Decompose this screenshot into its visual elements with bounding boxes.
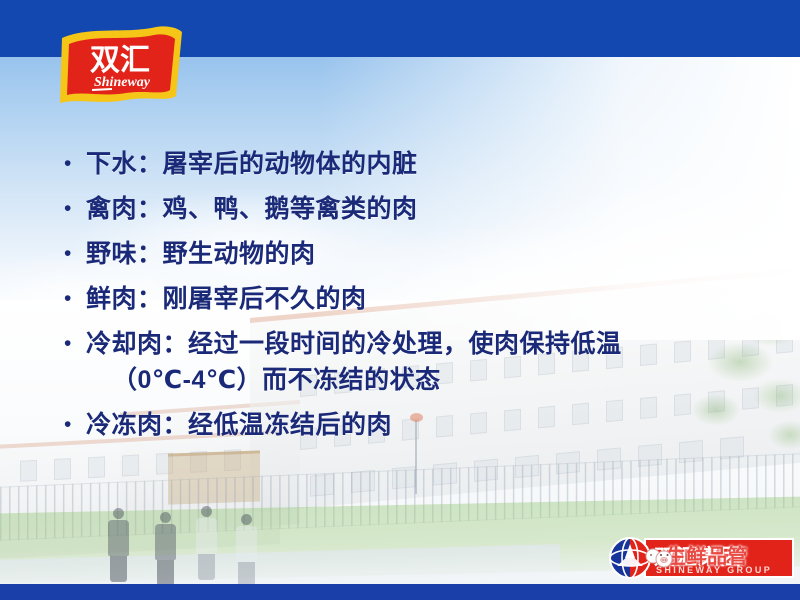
list-item: • 冷冻肉：经低温冻结后的肉 (58, 407, 758, 443)
group-logo-watermark: 生鲜品管 (666, 540, 748, 569)
bullet-text-line2: （0℃-4℃）而不冻结的状态 (86, 362, 622, 398)
bottom-blue-band (0, 584, 800, 600)
bullet-text: 冷冻肉：经低温冻结后的肉 (86, 407, 392, 443)
person-figure (155, 512, 176, 586)
bullet-text: 野味：野生动物的肉 (86, 236, 316, 272)
list-item: • 禽肉：鸡、鸭、鹅等禽类的肉 (58, 191, 758, 227)
bullet-marker: • (58, 146, 86, 182)
bullet-marker: • (58, 407, 86, 443)
person-figure (108, 508, 129, 582)
bullet-marker: • (58, 326, 86, 362)
flag-logo-chinese: 双汇 (90, 44, 150, 77)
bullet-text: 冷却肉：经过一段时间的冷处理，使肉保持低温 （0℃-4℃）而不冻结的状态 (86, 326, 622, 398)
pig-face-icon (644, 546, 674, 572)
bullet-marker: • (58, 281, 86, 317)
person-figure (196, 506, 217, 580)
bullet-text-line1: 冷却肉：经过一段时间的冷处理，使肉保持低温 (86, 330, 622, 358)
bullet-marker: • (58, 191, 86, 227)
list-item: • 野味：野生动物的肉 (58, 236, 758, 272)
list-item: • 下水：屠宰后的动物体的内脏 (58, 146, 758, 182)
person-figure (236, 514, 257, 588)
bullet-text: 鲜肉：刚屠宰后不久的肉 (86, 281, 367, 317)
shineway-group-logo: 双汇集团 SHINEWAY GROUP (608, 534, 794, 582)
bullet-list: • 下水：屠宰后的动物体的内脏 • 禽肉：鸡、鸭、鹅等禽类的肉 • 野味：野生动… (58, 146, 758, 452)
bullet-text: 下水：屠宰后的动物体的内脏 (86, 146, 418, 182)
shineway-flag-logo: 双汇 Shineway (56, 24, 186, 106)
bullet-marker: • (58, 236, 86, 272)
list-item: • 鲜肉：刚屠宰后不久的肉 (58, 281, 758, 317)
flag-logo-english: Shineway (94, 75, 151, 90)
slide: 双汇 Shineway • 下水：屠宰后的动物体的内脏 • 禽肉：鸡、鸭、鹅等禽… (0, 0, 800, 600)
list-item: • 冷却肉：经过一段时间的冷处理，使肉保持低温 （0℃-4℃）而不冻结的状态 (58, 326, 758, 398)
bullet-text: 禽肉：鸡、鸭、鹅等禽类的肉 (86, 191, 418, 227)
